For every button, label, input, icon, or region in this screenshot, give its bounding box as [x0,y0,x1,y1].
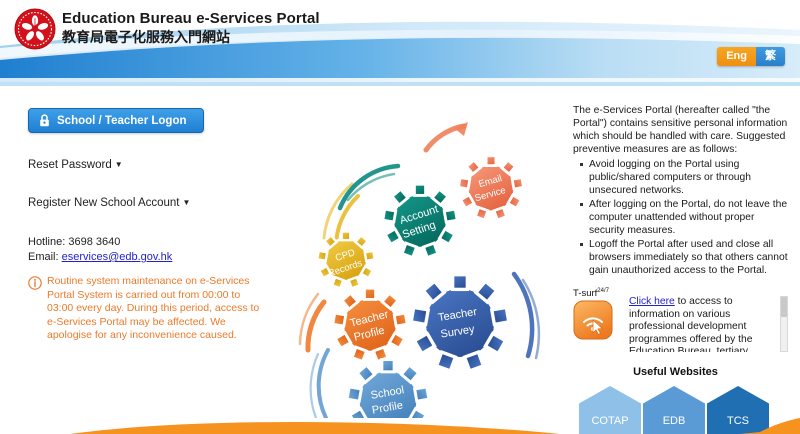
useful-websites-title: Useful Websites [573,366,778,378]
security-advice-block: The e-Services Portal (hereafter called … [573,104,788,277]
register-account-label: Register New School Account [28,197,180,209]
language-chinese-button[interactable]: 繁 [756,47,785,66]
maintenance-notice-text: Routine system maintenance on e-Services… [47,275,268,343]
info-icon [28,276,42,290]
school-teacher-logon-button[interactable]: School / Teacher Logon [28,108,204,133]
tsurf-caption: T-surf24/7 [573,286,623,299]
maintenance-notice: Routine system maintenance on e-Services… [28,275,268,343]
chevron-down-icon: ▼ [115,160,123,169]
email-label: Email: [28,251,59,263]
email-address-link[interactable]: eservices@edb.gov.hk [62,251,173,263]
contact-block: Hotline: 3698 3640 Email: eservices@edb.… [28,235,278,265]
tsurf-scrollbar-thumb[interactable] [781,297,787,317]
site-title-block: Education Bureau e-Services Portal 教育局電子… [62,10,320,46]
gear-diagram-svg: CPD Records Account Setting Email Servic… [278,88,563,418]
security-bullet-item: After logging on the Portal, do not leav… [589,198,788,237]
security-bullet-list: Avoid logging on the Portal using public… [573,158,788,277]
tsurf-description: Click here to access to information on v… [629,286,788,352]
logon-button-label: School / Teacher Logon [57,115,187,127]
hex-label-edb: EDB [659,415,690,428]
t-surf-wifi-cursor-icon[interactable] [573,300,613,340]
lock-icon [39,114,50,127]
site-header: Education Bureau e-Services Portal 教育局電子… [0,0,800,88]
register-new-school-account-menu[interactable]: Register New School Account▼ [28,197,278,209]
tsurf-caption-superscript: 24/7 [597,288,609,294]
security-bullet-item: Avoid logging on the Portal using public… [589,158,788,197]
tsurf-caption-main: T-surf [573,288,597,299]
hk-sar-bauhinia-emblem [14,8,56,50]
page-root: Education Bureau e-Services Portal 教育局電子… [0,0,800,434]
chevron-down-icon: ▼ [183,198,191,207]
hotline-text: Hotline: 3698 3640 [28,235,278,250]
tsurf-icon-wrap: T-surf24/7 [573,286,623,352]
main-content: School / Teacher Logon Reset Password▼ R… [0,88,800,434]
hex-label-cotap: COTAP [587,415,632,428]
hex-link-edb[interactable]: EDB [643,386,705,434]
email-row: Email: eservices@edb.gov.hk [28,250,278,265]
hex-label-tcs: TCS [723,415,753,428]
tsurf-click-here-link[interactable]: Click here [629,296,675,307]
site-title-english: Education Bureau e-Services Portal [62,10,320,28]
reset-password-menu[interactable]: Reset Password▼ [28,159,278,171]
language-toggle[interactable]: Eng 繁 [717,47,785,66]
useful-websites-hex-grid: COTAP EDB TCS Email Help Manual CLO [573,386,778,434]
site-title-chinese: 教育局電子化服務入門網站 [62,29,320,46]
language-english-button[interactable]: Eng [717,47,756,66]
gear-teacher-survey[interactable] [411,275,509,371]
right-column: The e-Services Portal (hereafter called … [573,104,788,434]
tsurf-promo-block: T-surf24/7 [573,286,788,352]
tsurf-scrollbar[interactable] [780,296,788,352]
services-gear-diagram: CPD Records Account Setting Email Servic… [278,88,563,418]
left-column: School / Teacher Logon Reset Password▼ R… [28,108,278,343]
hex-link-cotap[interactable]: COTAP [579,386,641,434]
reset-password-label: Reset Password [28,159,112,171]
security-bullet-item: Logoff the Portal after used and close a… [589,238,788,277]
security-intro-text: The e-Services Portal (hereafter called … [573,104,788,156]
hex-link-tcs[interactable]: TCS [707,386,769,434]
